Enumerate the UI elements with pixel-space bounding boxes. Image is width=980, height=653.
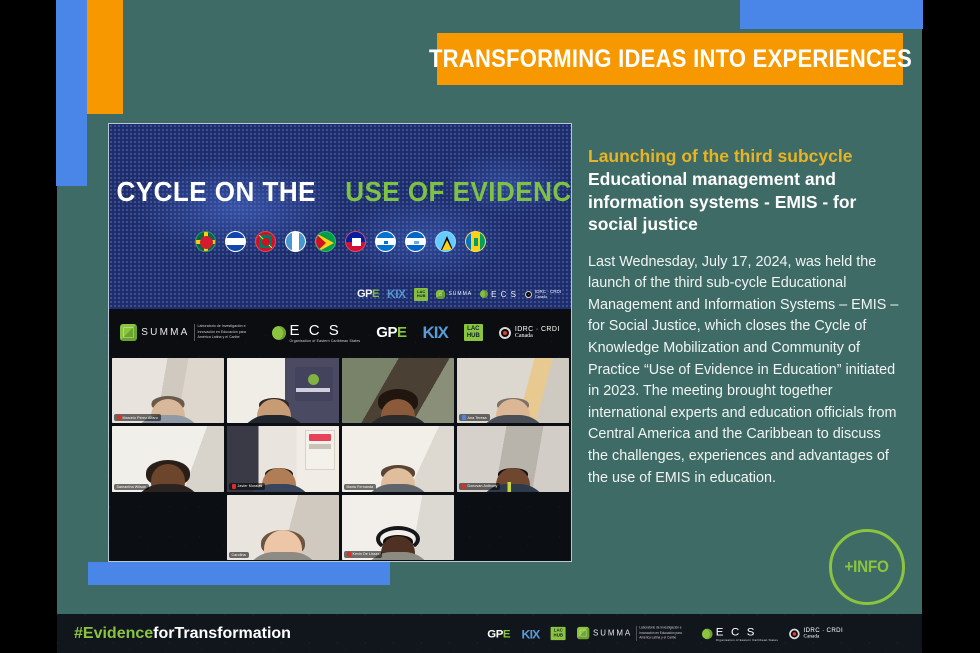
idrc-crdi-logo: IDRC · CRDI Canada: [499, 326, 560, 339]
participant-row: Samantha Wilson Javier Morales: [111, 426, 569, 491]
partner-logo-strip: SUMMA Laboratorio de Investigación e Inn…: [109, 309, 571, 356]
ecs-circle-icon: [272, 326, 286, 340]
mic-muted-icon: [232, 484, 236, 489]
haiti-flag: [345, 231, 366, 252]
canada-label: Canada: [515, 333, 560, 339]
grid-empty-slot: [112, 495, 224, 560]
canada-label: Canada: [803, 634, 842, 639]
participant-name: Javier Morales: [238, 484, 263, 488]
participant-name-badge: Samantha Wilson: [114, 484, 150, 490]
decor-bar-blue-top: [740, 0, 923, 29]
event-slide: CYCLE ON THE USE OF EVIDENCE: [109, 124, 571, 309]
nicaragua-flag: [405, 231, 426, 252]
participant-tile[interactable]: Ana Teresa: [457, 358, 569, 423]
participant-name-badge: Marcelo Perez Alfaro: [114, 414, 161, 421]
media-panel[interactable]: CYCLE ON THE USE OF EVIDENCE: [108, 123, 572, 562]
summa-label: SUMMA: [593, 629, 632, 638]
summa-tagline: Laboratorio de Investigación e Innovació…: [635, 626, 690, 640]
participant-name: Carolina: [232, 553, 246, 557]
ecs-logo: E C S Organisation of Eastern Caribbean …: [701, 625, 777, 642]
footer-bar: #EvidenceforTransformation GPE KIX LAC H…: [57, 614, 922, 653]
gpe-logo: GPE: [357, 288, 379, 300]
ecs-label: E C S: [290, 322, 361, 339]
hashtag-green: #Evidence: [74, 625, 153, 642]
participant-name: Samantha Wilson: [117, 485, 147, 489]
grid-empty-slot: [457, 495, 569, 560]
slide-title: CYCLE ON THE USE OF EVIDENCE: [109, 176, 571, 208]
summa-cube-icon: [120, 324, 137, 341]
gpe-logo: GPE: [487, 627, 510, 640]
slide-title-white: CYCLE ON THE: [117, 176, 316, 208]
participant-name-badge: Ana Teresa: [459, 414, 490, 421]
footer-logo-row: GPE KIX LAC HUB SUMMA Laboratorio de Inv…: [487, 625, 843, 642]
participant-name: Maria Fernanda: [347, 485, 374, 489]
participant-grid: Marcelo Perez Alfaro: [109, 356, 571, 562]
gpe-logo: GPE: [376, 324, 406, 341]
mic-muted-icon: [347, 552, 351, 557]
kix-logo: KIX: [387, 287, 406, 301]
ecs-logo: E C S Organisation of Eastern Caribbean …: [272, 322, 361, 343]
hub-label: HUB: [553, 634, 563, 639]
idrc-label: IDRC · CRDI: [515, 326, 560, 333]
article-text-column: Launching of the third subcycle Educatio…: [588, 146, 903, 489]
ecs-circle-icon: [701, 628, 712, 639]
participant-name: Marcelo Perez Alfaro: [123, 416, 158, 420]
idrc-crdi-logo: IDRC · CRDI Canada: [789, 628, 843, 639]
gpe-label: GPE: [487, 627, 510, 640]
summa-logo: SUMMA Laboratorio de Investigación e Inn…: [120, 324, 255, 341]
kix-label: KIX: [423, 323, 448, 343]
gpe-label: GPE: [376, 324, 406, 341]
participant-tile[interactable]: Kevin De Lisser: [342, 495, 454, 560]
participant-name-badge: Kevin De Lisser: [344, 551, 383, 558]
kix-logo: KIX: [423, 323, 448, 343]
summa-cube-icon: [577, 627, 589, 639]
ecs-label: E C S: [715, 625, 777, 638]
participant-name-badge: Maria Fernanda: [344, 484, 377, 490]
decor-bar-blue-bottom: [88, 562, 390, 585]
participant-tile[interactable]: Marcelo Perez Alfaro: [112, 358, 224, 423]
more-info-button[interactable]: +INFO: [829, 529, 905, 605]
slide-logo-row: GPE KIX LACHUB SUMMA E C S: [357, 287, 561, 301]
article-body: Last Wednesday, July 17, 2024, was held …: [588, 252, 903, 490]
dominica-flag: [195, 231, 216, 252]
participant-tile[interactable]: [342, 358, 454, 423]
participant-tile[interactable]: [227, 358, 339, 423]
screenshot-root: TRANSFORMING IDEAS INTO EXPERIENCES CYCL…: [0, 0, 980, 653]
banner-text: TRANSFORMING IDEAS INTO EXPERIENCES: [428, 45, 911, 74]
ecs-logo: E C S: [480, 290, 517, 299]
saint-vincent-flag: [465, 231, 486, 252]
kix-logo: KIX: [521, 626, 539, 640]
mic-icon: [462, 415, 466, 420]
article-headline: Educational management and information s…: [588, 168, 903, 235]
guatemala-flag: [285, 231, 306, 252]
idrc-dot-icon: [499, 327, 511, 339]
slide-title-green: USE OF EVIDENCE: [345, 176, 572, 208]
grenada-flag: [255, 231, 276, 252]
participant-name: Kevin De Lisser: [353, 552, 380, 556]
decor-bar-blue-left: [56, 0, 87, 186]
participant-tile[interactable]: Carolina: [227, 495, 339, 560]
lac-hub-logo: LAC HUB: [551, 627, 566, 640]
lac-hub-logo: LACHUB: [414, 288, 429, 301]
more-info-label: +INFO: [845, 557, 889, 577]
hashtag-white: forTransformation: [153, 625, 291, 642]
idrc-dot-icon: [789, 628, 800, 639]
participant-name: Donovan Anthony: [468, 484, 498, 488]
lac-label: LAC: [467, 326, 480, 333]
participant-tile[interactable]: Maria Fernanda: [342, 426, 454, 491]
campaign-hashtag: #EvidenceforTransformation: [74, 625, 291, 643]
participant-tile[interactable]: Samantha Wilson: [112, 426, 224, 491]
participant-name-badge: Carolina: [229, 552, 249, 558]
participant-tile[interactable]: Javier Morales: [227, 426, 339, 491]
summa-tagline: Laboratorio de Investigación e Innovació…: [194, 324, 256, 340]
honduras-flag: [375, 231, 396, 252]
headline-banner: TRANSFORMING IDEAS INTO EXPERIENCES: [437, 33, 903, 85]
summa-logo: SUMMA: [436, 290, 472, 299]
participant-row: Marcelo Perez Alfaro: [111, 358, 569, 423]
saint-lucia-flag: [435, 231, 456, 252]
guyana-flag: [315, 231, 336, 252]
hub-label: HUB: [467, 333, 480, 340]
ecs-sublabel: Organisation of Eastern Caribbean States: [715, 638, 777, 642]
participant-name-badge: Donovan Anthony: [459, 483, 501, 490]
participant-name-badge: Javier Morales: [229, 483, 266, 490]
ecs-sublabel: Organisation of Eastern Caribbean States: [290, 339, 361, 343]
el-salvador-flag: [225, 231, 246, 252]
kix-label: KIX: [521, 626, 539, 640]
decor-bar-orange-left: [87, 0, 123, 114]
mic-muted-icon: [462, 484, 466, 489]
participant-row: Carolina Kevin De Lisser: [111, 495, 569, 560]
participant-name: Ana Teresa: [468, 416, 487, 420]
participant-tile[interactable]: Donovan Anthony: [457, 426, 569, 491]
idrc-crdi-logo: IDRC · CRDI Canada: [525, 289, 561, 299]
summa-logo: SUMMA Laboratorio de Investigación e Inn…: [577, 626, 690, 640]
country-flag-row: [109, 231, 571, 252]
summa-label: SUMMA: [141, 327, 189, 338]
article-eyebrow: Launching of the third subcycle: [588, 146, 903, 167]
mic-muted-icon: [117, 415, 121, 420]
lac-hub-logo: LAC HUB: [464, 324, 483, 341]
